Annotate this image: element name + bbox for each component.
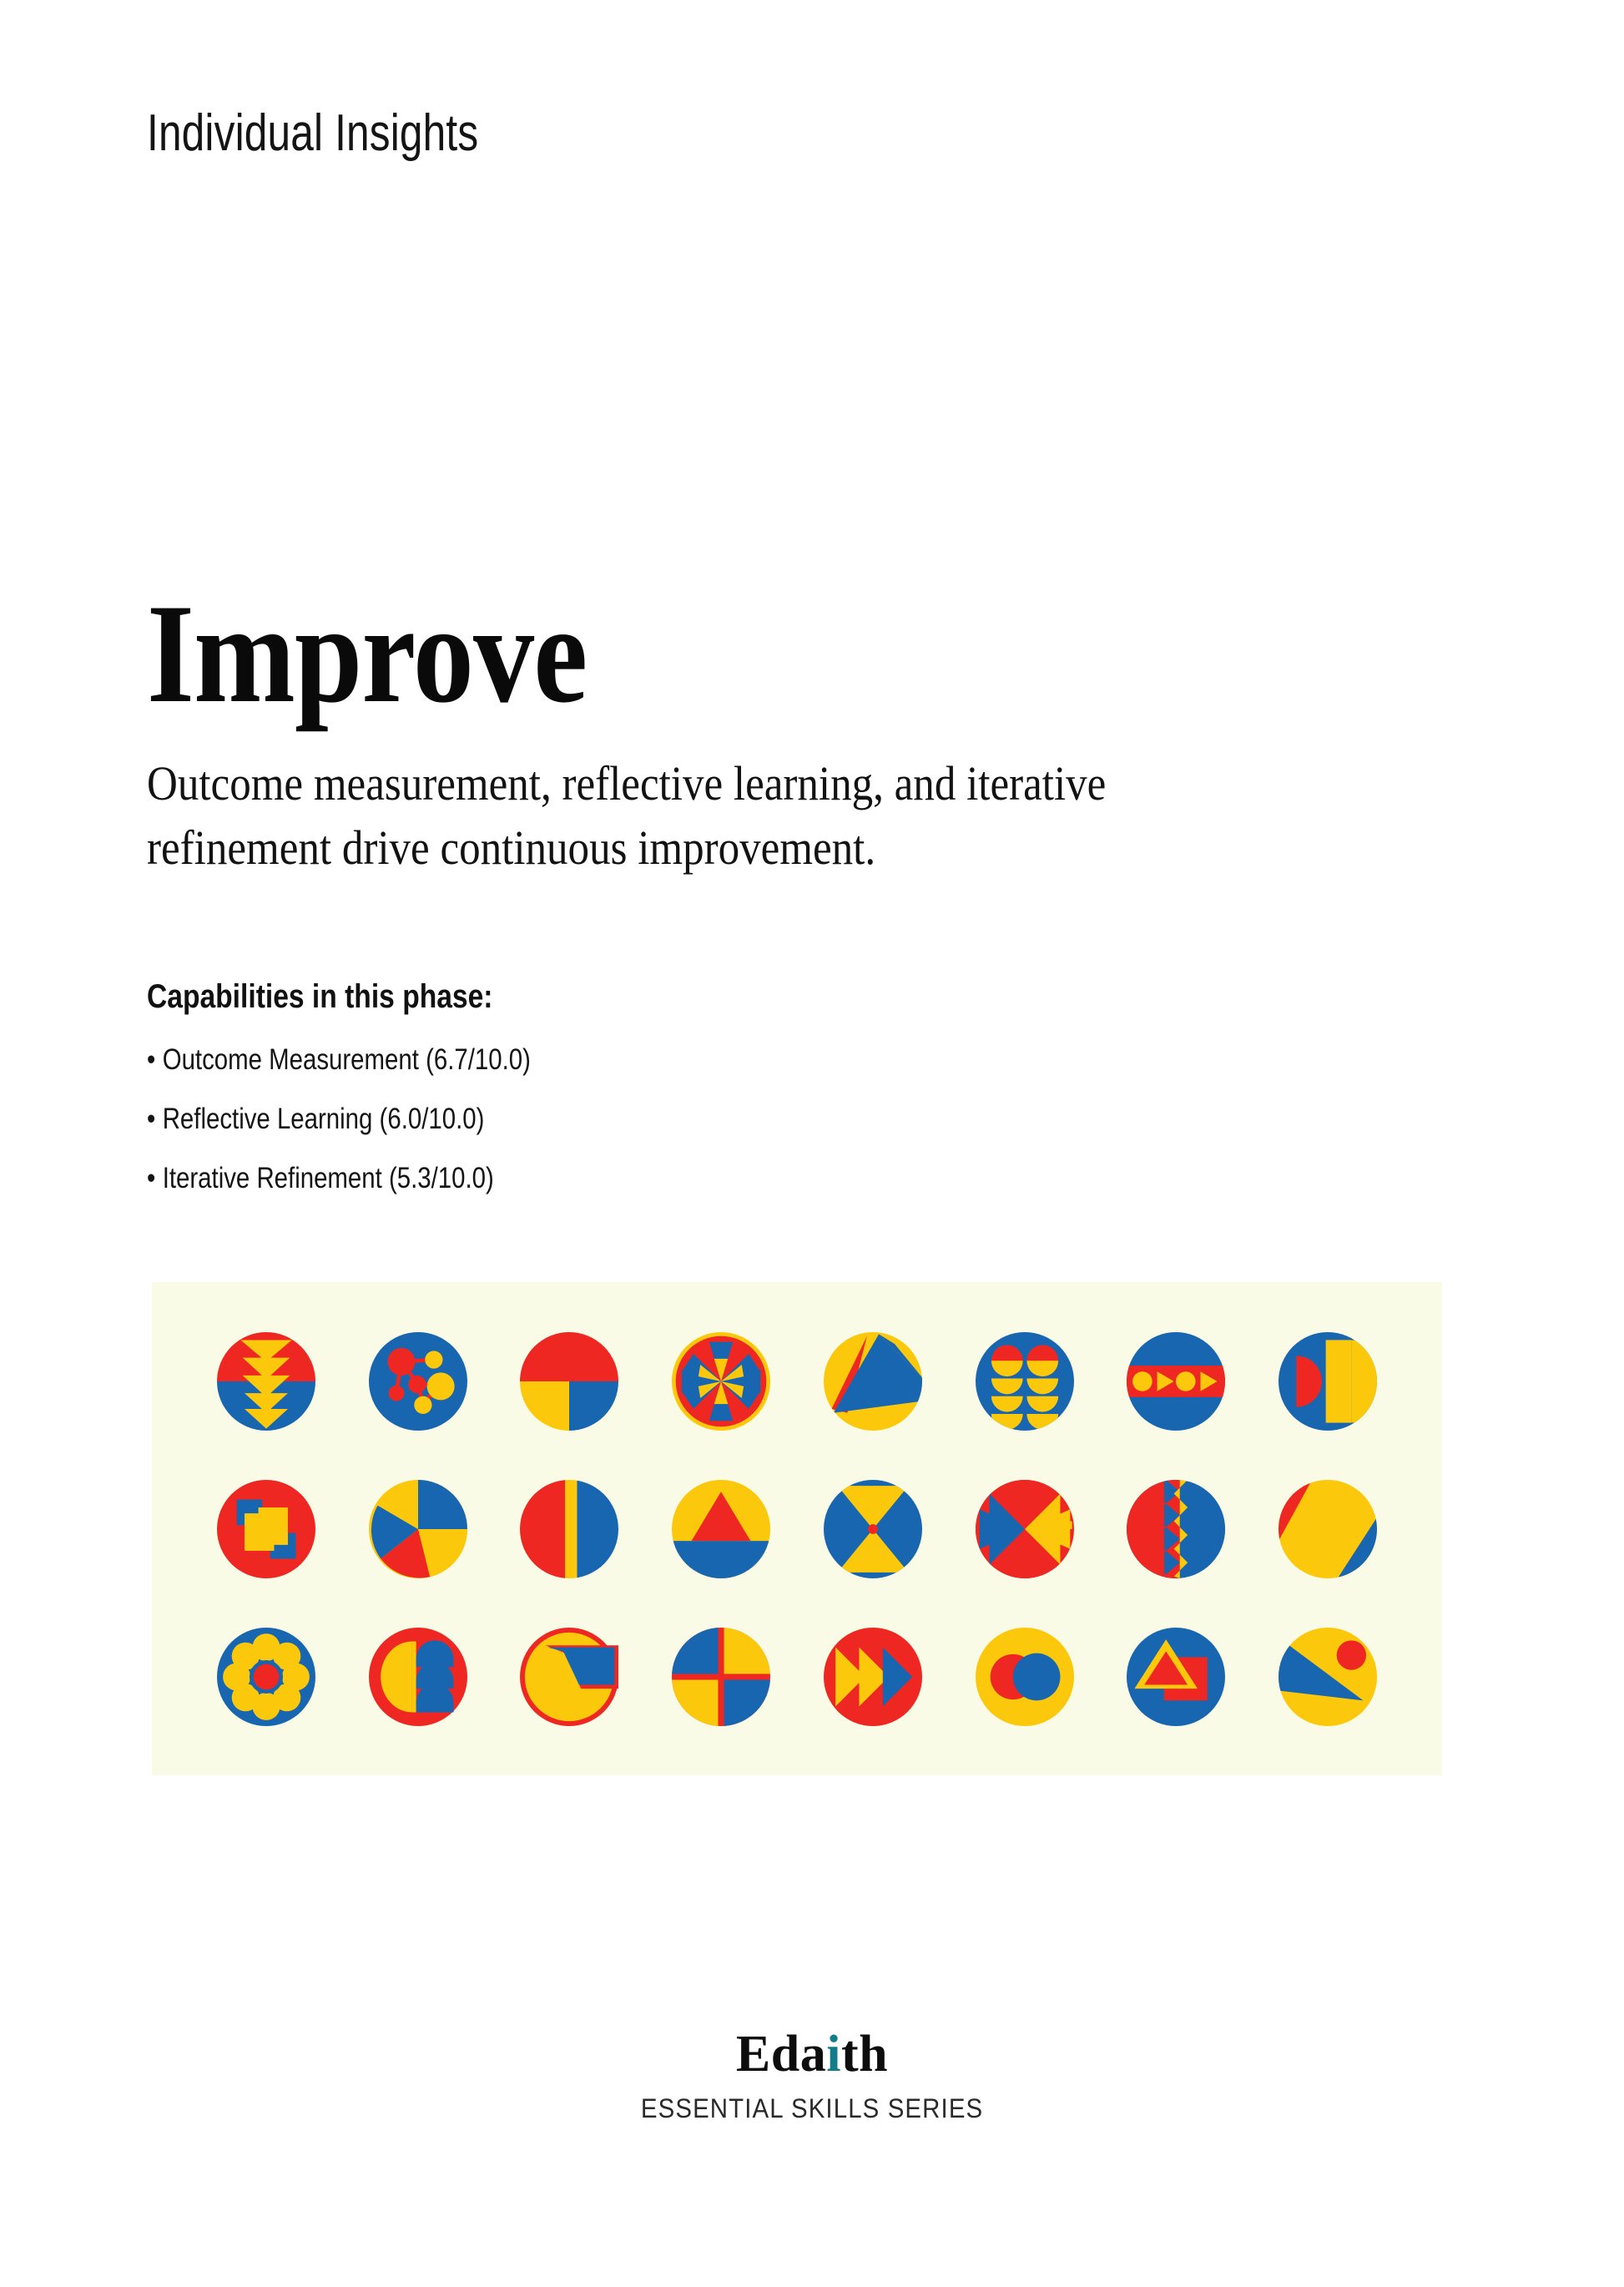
footer-series-label: ESSENTIAL SKILLS SERIES	[641, 2093, 983, 2124]
capabilities-list: •Outcome Measurement (6.7/10.0) •Reflect…	[147, 1045, 1232, 1223]
bullet-glyph: •	[147, 1045, 155, 1074]
descending-chevrons-icon	[217, 1332, 315, 1431]
diagonal-bands-icon	[1279, 1480, 1377, 1578]
network-nodes-icon	[369, 1332, 467, 1431]
offset-squares-icon	[217, 1480, 315, 1578]
five-slice-pie-icon	[369, 1480, 467, 1578]
brand-suffix: th	[841, 2026, 888, 2083]
triangle-square-overlap-icon	[1127, 1628, 1225, 1726]
capability-text: Iterative Refinement (5.3/10.0)	[163, 1162, 494, 1194]
layered-peaks-icon	[824, 1332, 922, 1431]
flower-rosette-icon	[217, 1628, 315, 1726]
hourglass-bowtie-icon	[824, 1480, 922, 1578]
icon-grid	[152, 1282, 1442, 1775]
capabilities-heading: Capabilities in this phase:	[147, 978, 492, 1016]
zigzag-seam-icon	[1127, 1480, 1225, 1578]
play-sequence-band-icon	[1127, 1332, 1225, 1431]
brand-logo: Edaith	[0, 2028, 1624, 2080]
stacked-domes-icon	[369, 1628, 467, 1726]
overlapping-discs-icon	[976, 1628, 1074, 1726]
footer: Edaith ESSENTIAL SKILLS SERIES	[0, 2028, 1624, 2124]
brand-prefix: Eda	[736, 2026, 826, 2083]
icon-panel	[152, 1282, 1442, 1775]
page-eyebrow: Individual Insights	[147, 103, 478, 163]
three-quarter-pie-icon	[520, 1332, 618, 1431]
half-moon-panels-icon	[1279, 1332, 1377, 1431]
vertical-split-bar-icon	[520, 1480, 618, 1578]
landscape-sun-icon	[1279, 1628, 1377, 1726]
stacked-arches-icon	[976, 1332, 1074, 1431]
capability-text: Reflective Learning (6.0/10.0)	[163, 1103, 485, 1135]
page-title: Improve	[147, 584, 587, 724]
list-item: •Reflective Learning (6.0/10.0)	[147, 1104, 1058, 1133]
capability-text: Outcome Measurement (6.7/10.0)	[163, 1043, 531, 1076]
page-root: Individual Insights Improve Outcome meas…	[0, 0, 1624, 2287]
list-item: •Iterative Refinement (5.3/10.0)	[147, 1164, 1058, 1193]
page-subtitle: Outcome measurement, reflective learning…	[147, 751, 1293, 880]
bullet-glyph: •	[147, 1164, 155, 1193]
fast-forward-icon	[824, 1628, 922, 1726]
triangle-horizon-icon	[672, 1480, 770, 1578]
bullet-glyph: •	[147, 1104, 155, 1133]
four-quadrant-icon	[672, 1628, 770, 1726]
quadrant-cross-icon	[976, 1480, 1074, 1578]
radial-burst-wheel-icon	[672, 1332, 770, 1431]
brand-accent-letter: i	[826, 2026, 841, 2083]
step-path-icon	[520, 1628, 618, 1726]
list-item: •Outcome Measurement (6.7/10.0)	[147, 1045, 1058, 1074]
